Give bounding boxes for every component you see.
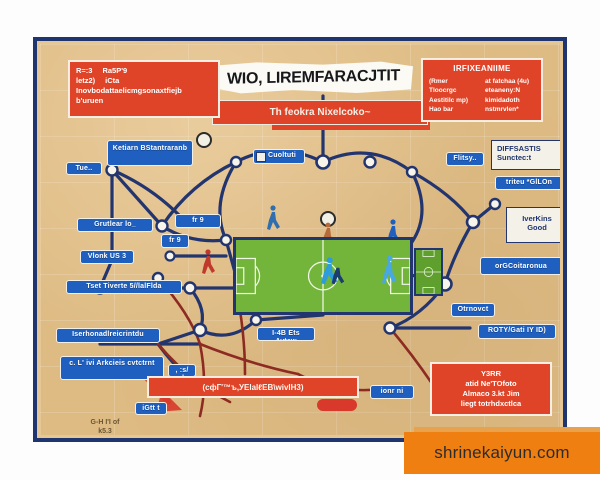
watermark: shrinekaiyun.com [404, 432, 600, 474]
sidebar-item-hotl[interactable]: fr 9 [175, 214, 221, 228]
bottom-banner: (сфГ'™ъ,УЕlalℓЕB\wivlH3) [147, 376, 359, 398]
player-figure-icon [267, 205, 280, 230]
top-left-line2-left: letz2) [76, 76, 95, 86]
legend-column-right: at fatchaa (4u) eteaneny:N kimidadoth ns… [485, 77, 535, 115]
white-box-lower: IverKins Good [506, 207, 560, 243]
top-left-line4: b'uruen [76, 96, 212, 106]
poster-title: WIO, LIREMFARACJTIT [213, 61, 413, 94]
player-figure-icon [202, 249, 215, 274]
sidebar-item-tset[interactable]: Tset Tiverte 5//lalFlda [66, 280, 182, 294]
node-label-outbound[interactable]: Otrnovct [451, 303, 495, 317]
sidebar-item-fr9[interactable]: fr 9 [161, 234, 189, 248]
legend-right-3: nstmrvlen* [485, 105, 535, 114]
sidebar-item-tue[interactable]: Tue.. [66, 162, 102, 175]
top-left-line3: Inovbodattaelicmgsonaxtfiejb [76, 86, 212, 96]
legend-right-2: kimidadoth [485, 96, 535, 105]
flag-icon [256, 152, 266, 162]
sidebar-item-vlonk[interactable]: Vlonk US 3 [80, 250, 134, 264]
top-left-line2-right: iCta [105, 76, 119, 86]
node-label-pitch[interactable]: I-4B Ets Avtew [257, 327, 315, 341]
sidebar-item-ketiarn[interactable]: Ketiarn BStantraranb [107, 140, 193, 166]
white-box-upper: DIFFSASTIS Sunctec:t [491, 140, 560, 170]
bottom-right-line-1: Almaco 3.kt Jim [438, 389, 544, 399]
bottom-right-line-0: atid Ne'TOfoto [438, 379, 544, 389]
poster-title-text: WIO, LIREMFARACJTIT [227, 67, 400, 89]
legend-left-3: Hao bar [429, 105, 479, 114]
poster-canvas: Th feokra Nixelcoko~ WIO, LIREMFARACJTIT… [40, 44, 560, 435]
screenshot-root: Th feokra Nixelcoko~ WIO, LIREMFARACJTIT… [0, 0, 600, 480]
top-left-line1-left: R=:3 [76, 66, 92, 76]
legend-column-left: (Rmer Tloocrgc Aestitilc mp) Hao bar [429, 77, 479, 115]
legend-left-1: Tloocrgc [429, 86, 479, 95]
poster-frame: Th feokra Nixelcoko~ WIO, LIREMFARACJTIT… [33, 37, 567, 442]
bottom-right-line-2: liegt totrhdxctlca [438, 399, 544, 409]
node-label-flow[interactable]: Flitsy.. [446, 152, 484, 166]
node-label-confront[interactable]: orGCoitaronua [480, 257, 560, 275]
legend-right-1: eteaneny:N [485, 86, 535, 95]
red-pill-marker [317, 399, 357, 411]
left-plain-note-line2: k5.3 [70, 427, 140, 435]
bottom-right-header: Y3RR [438, 369, 544, 379]
left-plain-note: G-H I'I of k5.3 [70, 418, 140, 435]
main-pitch-diagram [233, 237, 413, 315]
node-label-bottomleft[interactable]: ionr ni [370, 385, 414, 399]
poster-subtitle: Th feokra Nixelcoko~ [212, 100, 428, 125]
top-left-line1-right: Ra5P'9 [102, 66, 127, 76]
legend-left-0: (Rmer [429, 77, 479, 86]
top-left-info-card: R=:3 Ra5P'9 letz2) iCta Inovbodattaelicm… [68, 60, 220, 118]
sidebar-item-igtt[interactable]: iGtt t [135, 402, 167, 415]
left-plain-note-line1: G-H I'I of [70, 418, 140, 427]
legend-right-0: at fatchaa (4u) [485, 77, 535, 86]
sidebar-item-grutlear[interactable]: Grutlear lo_ [77, 218, 153, 232]
legend-left-2: Aestitilc mp) [429, 96, 479, 105]
node-label-rotation[interactable]: ROTY/Gati IY ID) [478, 324, 556, 339]
bottom-right-info-card: Y3RR atid Ne'TOfoto Almaco 3.kt Jim lieg… [430, 362, 552, 416]
node-label-action[interactable]: triteu *GlLOn [495, 176, 560, 190]
legend-header: IRFIXEANIIME [429, 64, 535, 75]
secondary-pitch-diagram [414, 248, 443, 296]
top-right-legend-card: IRFIXEANIIME (Rmer Tloocrgc Aestitilc mp… [421, 58, 543, 122]
sidebar-item-iserhona[interactable]: Iserhonadlreicrintdu [56, 328, 160, 343]
